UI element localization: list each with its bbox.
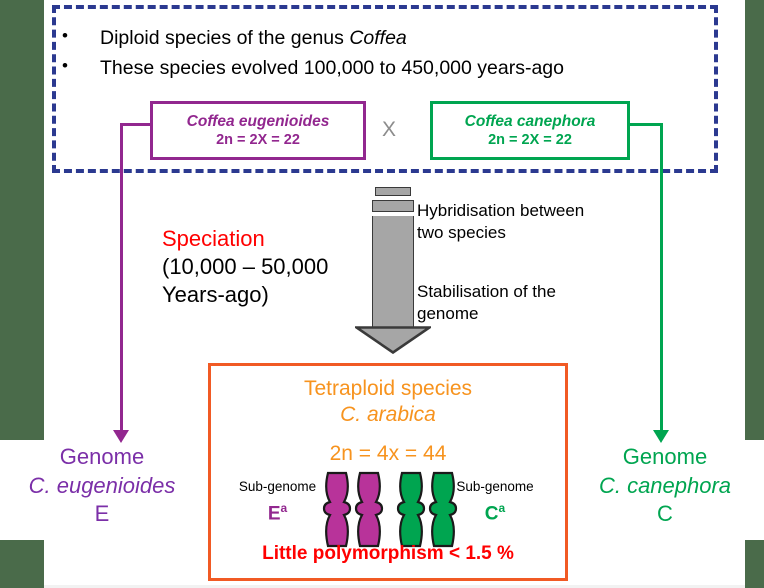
subgenome-right-superscript: a bbox=[499, 501, 506, 515]
subgenome-left-letter: E bbox=[268, 504, 281, 525]
connector-eugenioides-horizontal bbox=[120, 123, 153, 126]
subgenome-right-letter: C bbox=[485, 504, 499, 525]
cross-symbol: X bbox=[382, 118, 396, 142]
genome-right-letter: C bbox=[566, 500, 764, 529]
annotation-stabilisation: Stabilisation of the genome bbox=[417, 281, 617, 325]
diagram-stage: • Diploid species of the genus Coffea • … bbox=[0, 0, 764, 588]
bullet-text: Diploid species of the genus Coffea bbox=[100, 24, 407, 52]
chromosome-green-1 bbox=[398, 473, 424, 546]
parent-species-box-eugenioides: Coffea eugenioides 2n = 2X = 22 bbox=[150, 101, 366, 160]
tetraploid-species-box: Tetraploid species C. arabica 2n = 4x = … bbox=[208, 363, 568, 581]
parent-species-box-canephora: Coffea canephora 2n = 2X = 22 bbox=[430, 101, 630, 160]
process-arrow-segment-2 bbox=[372, 200, 414, 212]
process-arrow-segment-1 bbox=[375, 187, 411, 196]
genome-label-canephora: Genome C. canephora C bbox=[566, 443, 764, 529]
bullet-text: These species evolved 100,000 to 450,000… bbox=[100, 54, 564, 82]
genome-label-eugenioides: Genome C. eugenioides E bbox=[2, 443, 202, 529]
bullet-marker-icon: • bbox=[62, 54, 100, 79]
tetraploid-ploidy: 2n = 4x = 44 bbox=[211, 442, 565, 466]
genome-left-species: C. eugenioides bbox=[2, 472, 202, 501]
species-ploidy-eugenioides: 2n = 2X = 22 bbox=[153, 131, 363, 150]
speciation-title: Speciation bbox=[162, 225, 367, 253]
connector-canephora-arrowhead-icon bbox=[653, 430, 669, 443]
tetraploid-title: Tetraploid species C. arabica bbox=[211, 376, 565, 427]
tetraploid-title-line1: Tetraploid species bbox=[211, 376, 565, 402]
genome-left-letter: E bbox=[2, 500, 202, 529]
species-name-canephora: Coffea canephora bbox=[433, 112, 627, 131]
subgenome-left-label: Sub-genome bbox=[239, 479, 316, 494]
connector-eugenioides-arrowhead-icon bbox=[113, 430, 129, 443]
speciation-range-line1: (10,000 – 50,000 bbox=[162, 253, 367, 281]
annotation-hybridisation-line1: Hybridisation between bbox=[417, 200, 632, 222]
bullet-text-plain: Diploid species of the genus bbox=[100, 27, 349, 49]
subgenome-left-symbol: Ea bbox=[225, 499, 330, 529]
subgenome-left-superscript: a bbox=[281, 501, 288, 515]
list-item: • These species evolved 100,000 to 450,0… bbox=[62, 54, 712, 82]
genome-right-species: C. canephora bbox=[566, 472, 764, 501]
polymorphism-note: Little polymorphism < 1.5 % bbox=[211, 543, 565, 565]
tetraploid-species-name: C. arabica bbox=[211, 402, 565, 428]
annotation-hybridisation-line2: two species bbox=[417, 222, 632, 244]
subgenome-right: Sub-genome Ca bbox=[439, 477, 551, 529]
subgenome-right-label: Sub-genome bbox=[456, 479, 533, 494]
bullet-list: • Diploid species of the genus Coffea • … bbox=[62, 24, 712, 85]
connector-canephora-vertical bbox=[660, 123, 663, 436]
annotation-hybridisation: Hybridisation between two species bbox=[417, 200, 632, 244]
genome-left-heading: Genome bbox=[60, 444, 144, 469]
subgenome-right-symbol: Ca bbox=[439, 499, 551, 529]
connector-eugenioides-vertical bbox=[120, 123, 123, 436]
genome-right-heading: Genome bbox=[623, 444, 707, 469]
chromosome-magenta-1 bbox=[324, 473, 350, 546]
process-arrow-head-icon bbox=[355, 326, 431, 354]
bullet-text-italic: Coffea bbox=[349, 27, 406, 49]
species-ploidy-canephora: 2n = 2X = 22 bbox=[433, 131, 627, 150]
species-name-eugenioides: Coffea eugenioides bbox=[153, 112, 363, 131]
annotation-stabilisation-line1: Stabilisation of the bbox=[417, 281, 617, 303]
process-arrow-shaft bbox=[372, 216, 414, 327]
subgenome-left: Sub-genome Ea bbox=[225, 477, 330, 529]
chromosome-magenta-2 bbox=[356, 473, 382, 546]
list-item: • Diploid species of the genus Coffea bbox=[62, 24, 712, 52]
speciation-range-line2: Years-ago) bbox=[162, 281, 367, 309]
connector-canephora-horizontal bbox=[627, 123, 663, 126]
speciation-note: Speciation (10,000 – 50,000 Years-ago) bbox=[162, 225, 367, 309]
annotation-stabilisation-line2: genome bbox=[417, 303, 617, 325]
bullet-marker-icon: • bbox=[62, 24, 100, 49]
